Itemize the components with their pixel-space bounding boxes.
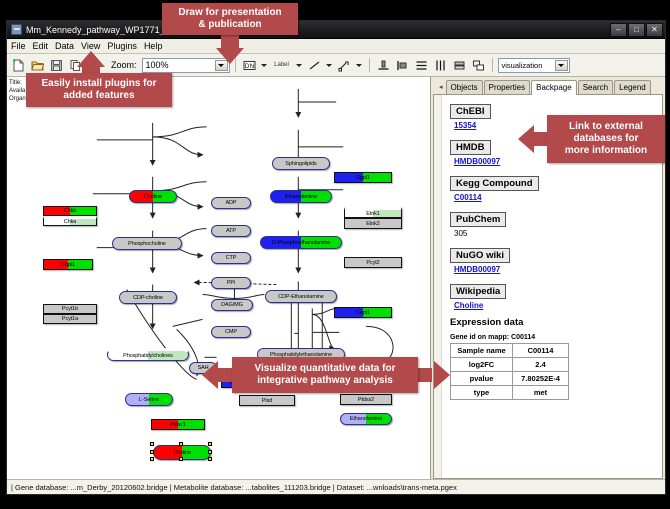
- callout-link: Link to external databases for more info…: [547, 115, 665, 163]
- label-chevron-down-icon[interactable]: [295, 57, 304, 74]
- metabolite-node[interactable]: Choline: [129, 190, 177, 203]
- menu-item-data[interactable]: Data: [55, 41, 74, 51]
- zoom-label: Zoom:: [111, 60, 137, 70]
- db-link-kegg[interactable]: C00114: [454, 193, 654, 202]
- toolbar-separator-3: [492, 58, 493, 72]
- metabolite-node[interactable]: ATP: [211, 225, 251, 237]
- pathway-info-labels: Title: Availa Organi: [9, 79, 27, 103]
- distribute-horizontal-icon[interactable]: [432, 57, 449, 74]
- tab-search[interactable]: Search: [578, 80, 613, 94]
- metabolite-label: Choline: [173, 450, 191, 456]
- datanode-chevron-down-icon[interactable]: [260, 57, 269, 74]
- menu-item-view[interactable]: View: [81, 41, 100, 51]
- metabolite-node[interactable]: O-Phosphoethanolamine: [260, 236, 342, 249]
- gene-node[interactable]: Pcyt2: [344, 257, 402, 268]
- metabolite-label: Phosphocholine: [128, 241, 166, 247]
- status-bar-text: | Gene database: ...m_Derby_20120602.bri…: [11, 483, 457, 492]
- metabolite-label: CDP-Ethanolamine: [278, 294, 323, 300]
- metabolite-label: Ethanolamine: [285, 194, 317, 200]
- callout-visualize-arrow: [202, 361, 218, 389]
- db-section-kegg: Kegg Compound C00114: [450, 173, 654, 202]
- anchor-tool-icon[interactable]: [336, 57, 353, 74]
- expression-key: log2FC: [451, 358, 513, 372]
- gene-label: Pcyt1b: [62, 306, 78, 312]
- gene-label: Cept1: [356, 310, 370, 316]
- metabolite-label: CMP: [225, 329, 237, 335]
- metabolite-node[interactable]: CDP-choline: [119, 291, 177, 304]
- metabolite-node[interactable]: L-Serine: [125, 393, 173, 406]
- expression-value: met: [513, 386, 569, 400]
- gene-label: Pcyt2: [366, 260, 379, 266]
- tab-scroll-left-icon[interactable]: ◂: [439, 82, 445, 94]
- callout-link-line3: more information: [565, 145, 647, 157]
- expression-key: pvalue: [451, 372, 513, 386]
- tab-legend[interactable]: Legend: [614, 80, 651, 94]
- line-tool-icon[interactable]: [306, 57, 323, 74]
- label-tool-icon[interactable]: Label: [271, 57, 293, 74]
- gene-node[interactable]: Pisd: [239, 395, 295, 406]
- selection-handle[interactable]: [179, 457, 183, 461]
- expression-value: 2.4: [513, 358, 569, 372]
- label-title: Title:: [9, 79, 27, 87]
- metabolite-node[interactable]: CTP: [211, 252, 251, 264]
- gene-node[interactable]: Chka: [43, 216, 97, 226]
- selection-handle[interactable]: [208, 442, 212, 446]
- pathway-canvas-pane[interactable]: Title: Availa Organi: [7, 77, 431, 479]
- open-folder-icon[interactable]: [29, 57, 46, 74]
- callout-draw: Draw for presentation & publication: [162, 3, 298, 35]
- menu-item-plugins[interactable]: Plugins: [107, 41, 137, 51]
- gene-label: Ptdsr1: [170, 422, 185, 428]
- gene-node[interactable]: Etnk2: [344, 218, 402, 229]
- metabolite-label: ADP: [225, 200, 236, 206]
- callout-visualize-arrow-right: [434, 361, 450, 389]
- selection-handle[interactable]: [179, 442, 183, 446]
- close-button[interactable]: ✕: [646, 23, 663, 37]
- metabolite-node[interactable]: CMP: [211, 326, 251, 338]
- gene-label: Chpt1: [61, 262, 75, 268]
- callout-draw-line1: Draw for presentation: [178, 7, 281, 19]
- gene-label: Etnk1: [366, 211, 380, 217]
- callout-visualize: Visualize quantitative data for integrat…: [232, 357, 418, 393]
- metabolite-label: DAG/MG: [221, 302, 243, 308]
- window-title: Mm_Kennedy_pathway_WP1771_45176.gpml: [26, 25, 610, 35]
- metabolite-label: O-Phosphoethanolamine: [272, 240, 331, 246]
- app-icon: [11, 24, 22, 35]
- minimize-button[interactable]: –: [610, 23, 627, 37]
- expression-row: typemet: [451, 386, 569, 400]
- expression-key: Sample name: [451, 344, 513, 358]
- group-icon[interactable]: [470, 57, 487, 74]
- db-label-hmdb: HMDB: [450, 140, 491, 155]
- callout-plugins-line2: added features: [63, 90, 134, 102]
- anchor-chevron-down-icon[interactable]: [355, 57, 364, 74]
- metabolite-label: L-Serine: [139, 397, 159, 403]
- gene-node[interactable]: Chkb: [43, 206, 97, 216]
- expression-row: Sample nameC00114: [451, 344, 569, 358]
- selection-handle[interactable]: [150, 442, 154, 446]
- metabolite-label: Sphingolipids: [285, 161, 316, 167]
- db-label-wikipedia: Wikipedia: [450, 284, 506, 299]
- expression-value: 7.80252E-4: [513, 372, 569, 386]
- gene-node[interactable]: Ptdss2: [340, 394, 392, 405]
- metabolite-node[interactable]: Phosphocholine: [112, 237, 182, 250]
- metabolite-node[interactable]: Ethanolamine: [270, 190, 332, 203]
- db-label-chebi: ChEBI: [450, 104, 491, 119]
- selection-handle[interactable]: [150, 450, 154, 454]
- metabolite-label: Phosphatidylcholines: [123, 353, 173, 359]
- expression-table: Sample nameC00114log2FC2.4pvalue7.80252E…: [450, 343, 569, 400]
- db-label-nugo: NuGO wiki: [450, 248, 510, 263]
- metabolite-node[interactable]: Phosphatidylcholines: [107, 348, 189, 361]
- db-section-nugo: NuGO wiki HMDB00097: [450, 245, 654, 274]
- metabolite-node[interactable]: Ethanolamine: [340, 413, 392, 425]
- gene-node[interactable]: Sgpl1: [334, 172, 392, 183]
- menu-item-help[interactable]: Help: [144, 41, 163, 51]
- metabolite-label: ATP: [226, 228, 236, 234]
- visualization-value: visualization: [502, 61, 543, 70]
- visualization-combo[interactable]: visualization: [498, 58, 570, 73]
- gene-label: Pcyt1a: [62, 316, 78, 322]
- db-link-wikipedia[interactable]: Choline: [454, 301, 654, 310]
- db-label-pubchem: PubChem: [450, 212, 506, 227]
- gene-label: Etnk2: [366, 221, 380, 227]
- metabolite-node[interactable]: DAG/MG: [211, 299, 253, 311]
- callout-draw-line2: & publication: [198, 19, 261, 31]
- selection-handle[interactable]: [150, 457, 154, 461]
- metabolite-label: CTP: [226, 255, 237, 261]
- gene-label: Pisd: [262, 398, 272, 404]
- gene-id-label: Gene id on mapp: C00114: [450, 334, 654, 341]
- menu-bar: File Edit Data View Plugins Help: [7, 39, 665, 54]
- metabolite-label: CDP-choline: [133, 295, 163, 301]
- visualization-chevron-down-icon[interactable]: [555, 60, 568, 71]
- db-label-kegg: Kegg Compound: [450, 176, 539, 191]
- new-file-icon[interactable]: [10, 57, 27, 74]
- status-bar: | Gene database: ...m_Derby_20120602.bri…: [7, 479, 665, 494]
- callout-plugins-arrow: [77, 51, 105, 67]
- callout-plugins-line1: Easily install plugins for: [41, 78, 156, 90]
- callout-visualize-line2: integrative pathway analysis: [257, 375, 393, 387]
- callout-draw-arrow: [216, 48, 244, 64]
- callout-link-line2: databases for: [573, 133, 638, 145]
- callout-link-arrow: [518, 125, 534, 153]
- db-value-pubchem: 305: [454, 229, 654, 238]
- window-controls: – □ ✕: [610, 23, 665, 37]
- expression-key: type: [451, 386, 513, 400]
- menu-item-edit[interactable]: Edit: [33, 41, 49, 51]
- gene-node[interactable]: Pcyt1a: [43, 314, 97, 324]
- expression-data-heading: Expression data: [450, 317, 654, 328]
- align-bottom-icon[interactable]: [375, 57, 392, 74]
- callout-link-line1: Link to external: [569, 121, 643, 133]
- metabolite-node[interactable]: Sphingolipids: [272, 157, 330, 170]
- tab-objects[interactable]: Objects: [446, 80, 483, 94]
- metabolite-node[interactable]: ADP: [211, 197, 251, 209]
- align-left-icon[interactable]: [394, 57, 411, 74]
- screenshot-root: Mm_Kennedy_pathway_WP1771_45176.gpml – □…: [0, 0, 670, 509]
- distribute-vertical-icon[interactable]: [413, 57, 430, 74]
- tab-properties[interactable]: Properties: [484, 80, 530, 94]
- gene-label: Sgpl1: [356, 175, 370, 181]
- db-section-pubchem: PubChem 305: [450, 209, 654, 238]
- gene-node[interactable]: Pcyt1b: [43, 304, 97, 314]
- menu-item-file[interactable]: File: [11, 41, 26, 51]
- metabolite-label: Ethanolamine: [350, 416, 382, 422]
- toolbar-separator-2: [369, 58, 370, 72]
- gene-label: Chka: [64, 219, 76, 225]
- backpage-scrollbar[interactable]: [434, 95, 442, 478]
- gene-label: Ptdss2: [358, 397, 374, 403]
- metabolite-node[interactable]: CDP-Ethanolamine: [265, 290, 337, 303]
- selection-handle[interactable]: [208, 457, 212, 461]
- metabolite-label: Choline: [144, 194, 162, 200]
- save-icon[interactable]: [48, 57, 65, 74]
- line-chevron-down-icon[interactable]: [325, 57, 334, 74]
- gene-node[interactable]: Chpt1: [43, 259, 93, 270]
- callout-draw-stem: [221, 35, 239, 49]
- gene-node[interactable]: Cept1: [334, 307, 392, 318]
- expression-row: log2FC2.4: [451, 358, 569, 372]
- gene-node[interactable]: Ptdsr1: [151, 419, 205, 430]
- label-tool-text: Label: [274, 62, 289, 68]
- gene-label: Chkb: [64, 208, 76, 214]
- title-bar: Mm_Kennedy_pathway_WP1771_45176.gpml – □…: [7, 21, 665, 39]
- metabolite-label: PPi: [227, 280, 235, 286]
- pathway-nodes: SphingolipidsEthanolamineO-Phosphoethano…: [7, 77, 430, 479]
- selection-handle[interactable]: [208, 450, 212, 454]
- expression-value: C00114: [513, 344, 569, 358]
- metabolite-node[interactable]: PPi: [211, 277, 251, 289]
- label-organism: Organi: [9, 95, 27, 103]
- svg-text:DN: DN: [244, 63, 254, 70]
- expression-row: pvalue7.80252E-4: [451, 372, 569, 386]
- db-link-nugo[interactable]: HMDB00097: [454, 265, 654, 274]
- label-availability: Availa: [9, 87, 27, 95]
- callout-plugins: Easily install plugins for added feature…: [26, 73, 172, 107]
- zoom-value: 100%: [146, 60, 169, 70]
- side-panel-tabs: ◂ Objects Properties Backpage Search Leg…: [433, 79, 663, 94]
- db-section-wikipedia: Wikipedia Choline: [450, 281, 654, 310]
- stack-icon[interactable]: [451, 57, 468, 74]
- maximize-button[interactable]: □: [628, 23, 645, 37]
- callout-visualize-line1: Visualize quantitative data for: [255, 363, 396, 375]
- callout-visualize-stem-right: [418, 368, 432, 382]
- tab-backpage[interactable]: Backpage: [531, 80, 577, 95]
- gene-node[interactable]: Etnk1: [344, 207, 402, 218]
